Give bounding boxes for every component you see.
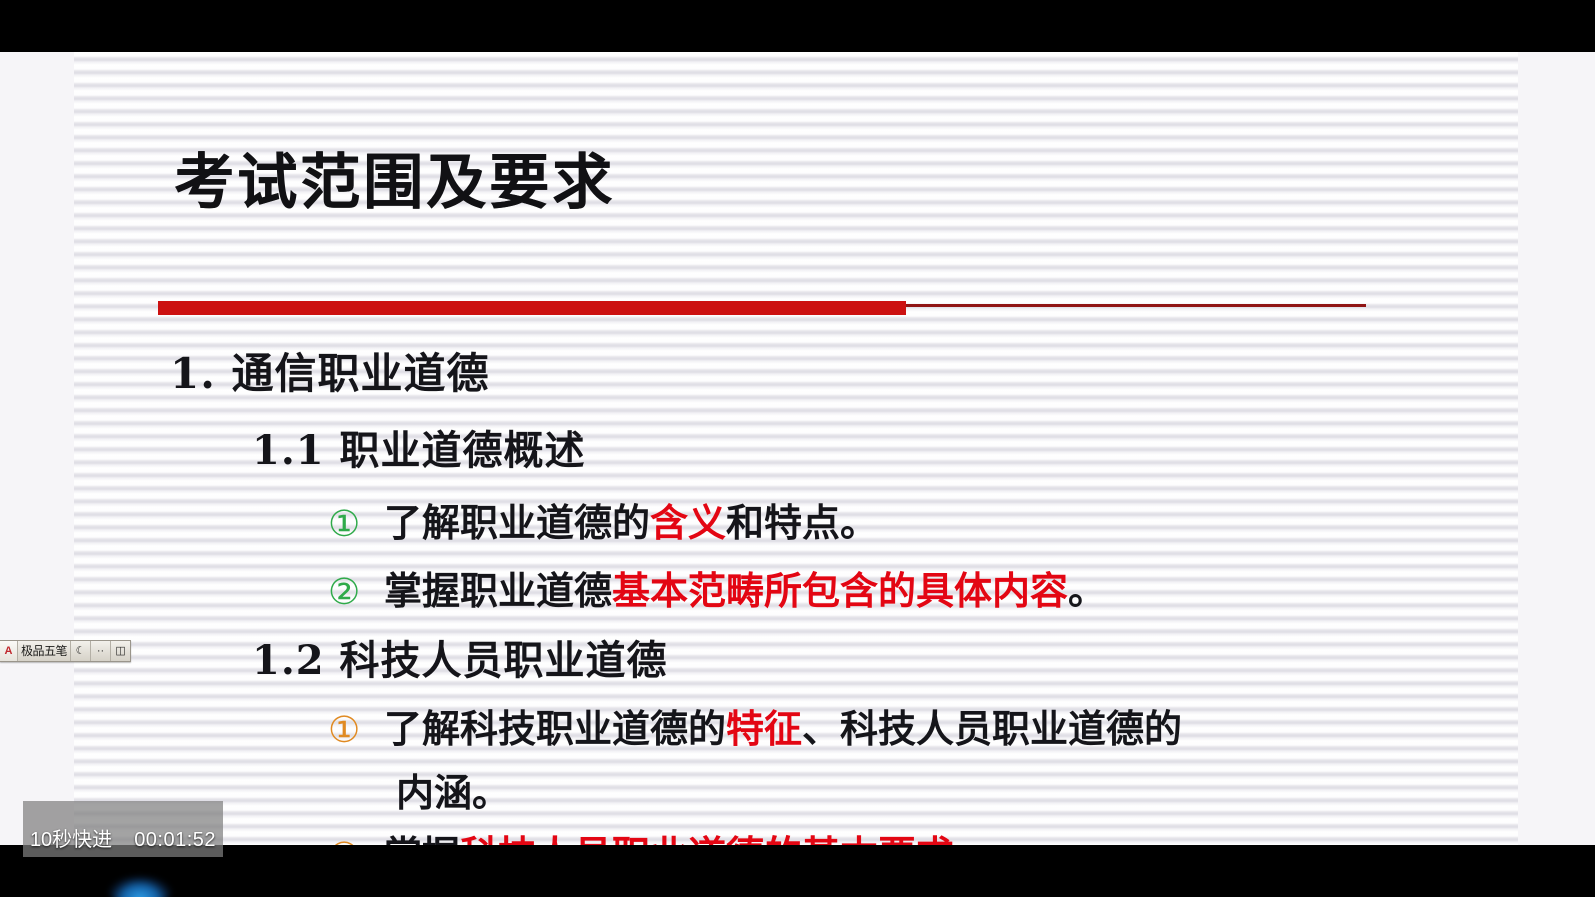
list-item-text-part-0: 了解职业道德的 — [384, 500, 650, 545]
subsection-heading-1-1: 1.1 职业道德概述 — [252, 418, 586, 476]
presentation-slide: 考试范围及要求 1. 通信职业道德 1.1 职业道德概述 ①了解职业道德的含义和… — [0, 52, 1595, 845]
title-underline-thick — [158, 301, 906, 315]
list-item-text-highlight: 基本范畴所包含的具体内容 — [612, 568, 1068, 613]
ime-toolbar[interactable]: A 极品五笔 ☾ ·· ◫ — [0, 640, 131, 662]
slide-content: 考试范围及要求 1. 通信职业道德 1.1 职业道德概述 ①了解职业道德的含义和… — [0, 52, 1595, 845]
list-marker-circled-2: ② — [328, 836, 384, 845]
list-item-text-highlight: 含义 — [650, 500, 726, 545]
video-player-screen: 考试范围及要求 1. 通信职业道德 1.1 职业道德概述 ①了解职业道德的含义和… — [0, 0, 1595, 897]
osd-timestamp: 00:01:52 — [134, 829, 216, 852]
ime-name-label[interactable]: 极品五笔 — [18, 641, 71, 661]
ime-mode-icon[interactable]: A — [0, 641, 18, 661]
list-marker-circled-1: ① — [328, 710, 384, 751]
list-item-text-highlight: 科技人员职业道德的基本要求 — [460, 832, 954, 845]
list-item-text-part-2: 。 — [1068, 568, 1106, 613]
moon-icon[interactable]: ☾ — [71, 641, 91, 661]
subsection-heading-1-2: 1.2 科技人员职业道德 — [252, 628, 668, 686]
list-item-1-1-1: ①了解职业道德的含义和特点。 — [328, 492, 878, 547]
list-marker-circled-2: ② — [328, 572, 384, 613]
slide-title: 考试范围及要求 — [174, 134, 615, 221]
section-heading-1: 1. 通信职业道德 — [170, 340, 489, 401]
list-item-text-part-2: 和特点。 — [726, 500, 878, 545]
letterbox-bottom-bar — [0, 845, 1595, 897]
list-item-1-2-2: ②掌握科技人员职业道德的基本要求。 — [328, 824, 992, 845]
list-item-text-part-0: 了解科技职业道德的 — [384, 706, 726, 751]
player-osd-overlay: 10秒快进 00:01:52 — [23, 801, 223, 857]
list-marker-circled-1: ① — [328, 504, 384, 545]
list-item-text-part-0: 掌握职业道德 — [384, 568, 612, 613]
list-item-text-part-2: 、科技人员职业道德的 — [802, 706, 1182, 751]
osd-action-label: 10秒快进 — [30, 823, 112, 852]
punctuation-icon[interactable]: ·· — [91, 641, 111, 661]
list-item-1-2-1: ①了解科技职业道德的特征、科技人员职业道德的 — [328, 698, 1182, 753]
list-item-text-part-0: 掌握 — [384, 832, 460, 845]
list-item-1-2-1-continuation: 内涵。 — [396, 762, 510, 817]
letterbox-top-bar — [0, 0, 1595, 52]
list-item-1-1-2: ②掌握职业道德基本范畴所包含的具体内容。 — [328, 560, 1106, 615]
list-item-text-highlight: 特征 — [726, 706, 802, 751]
keyboard-icon[interactable]: ◫ — [111, 641, 130, 661]
list-item-text-part-2: 。 — [954, 832, 992, 845]
